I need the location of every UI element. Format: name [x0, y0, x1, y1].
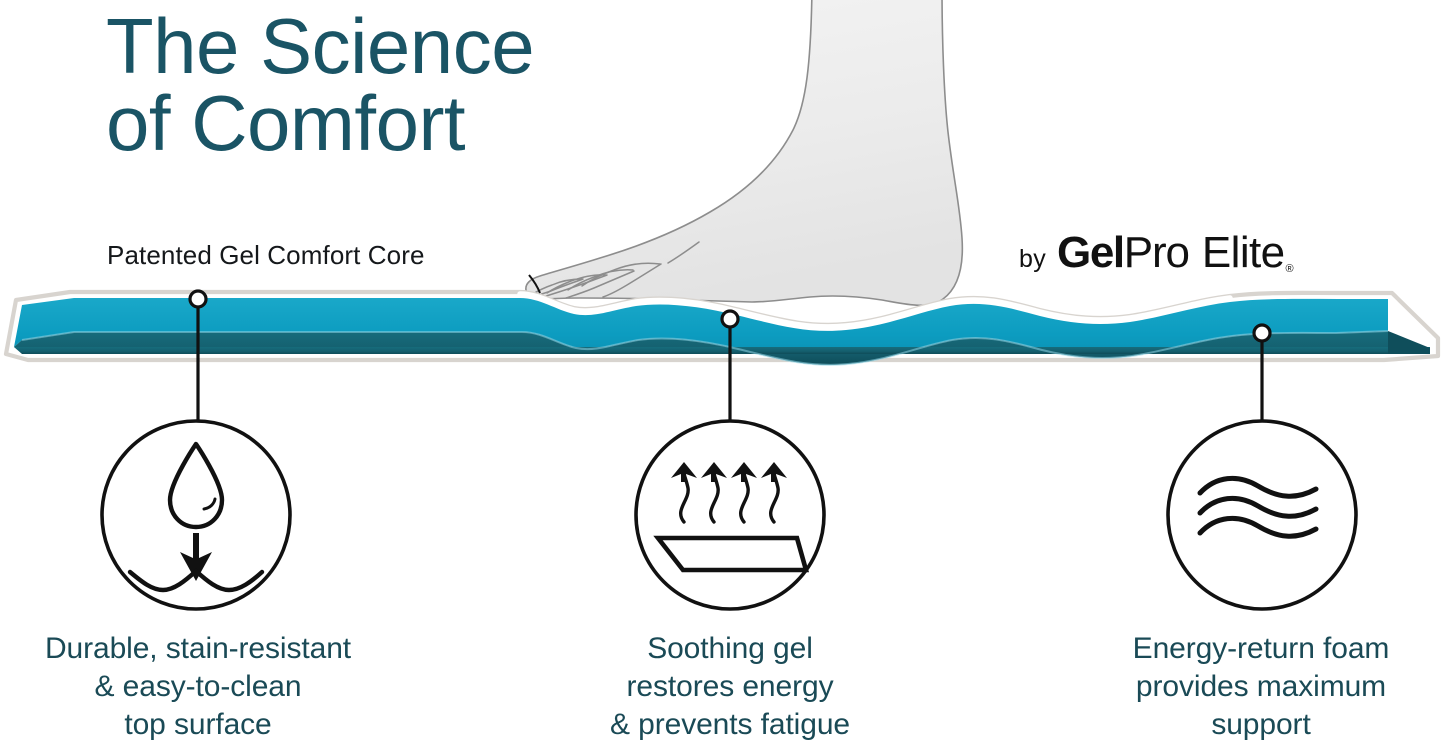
brand-prefix: by	[1019, 245, 1046, 274]
feature-caption-2: Soothing gel restores energy & prevents …	[520, 630, 940, 744]
mat-foam-core-base	[14, 347, 1430, 354]
feature-block-2: Soothing gel restores energy & prevents …	[520, 630, 940, 744]
page-title: The Science of Comfort	[106, 8, 726, 162]
leader-marker-2	[722, 311, 738, 327]
feature-caption-3: Energy-return foam provides maximum supp…	[1051, 630, 1445, 744]
leader-marker-1	[190, 291, 206, 307]
leader-marker-3	[1254, 325, 1270, 341]
brand-name-elite: Elite	[1202, 228, 1285, 278]
science-of-comfort-infographic: The Science of Comfort Patented Gel Comf…	[0, 0, 1445, 749]
feature-icon-3[interactable]	[1168, 421, 1356, 609]
brand-logo: by Gel Pro Elite ®	[1019, 228, 1294, 278]
feature-caption-1: Durable, stain-resistant & easy-to-clean…	[0, 630, 408, 744]
registered-trademark-icon: ®	[1286, 263, 1294, 278]
feature-block-1: Durable, stain-resistant & easy-to-clean…	[0, 630, 408, 744]
feature-block-3: Energy-return foam provides maximum supp…	[1051, 630, 1445, 744]
gel-core-callout-label: Patented Gel Comfort Core	[107, 240, 425, 271]
feature-icon-2[interactable]	[636, 421, 824, 609]
icon-circle-3	[1168, 421, 1356, 609]
brand-name-gel: Gel	[1057, 228, 1124, 278]
feature-icon-1[interactable]	[102, 421, 290, 609]
icon-circle-2	[636, 421, 824, 609]
brand-name-pro: Pro	[1124, 228, 1189, 278]
